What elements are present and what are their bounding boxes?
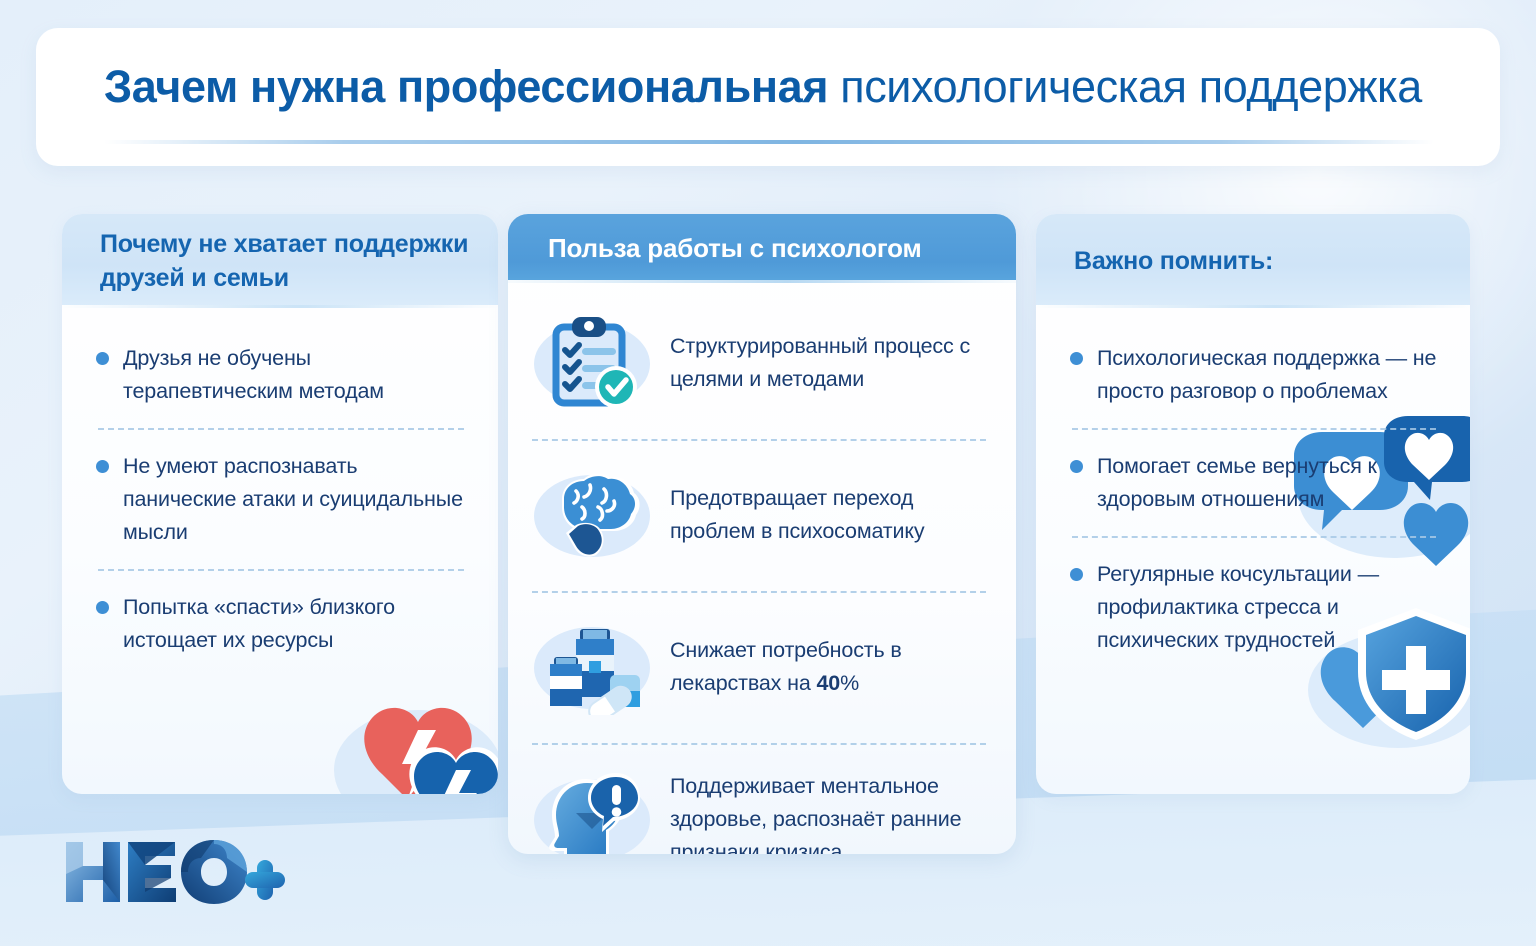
list-item-label: Структурированный процесс с целями и мет… bbox=[670, 330, 990, 396]
column-remember-header: Важно помнить: bbox=[1036, 214, 1470, 308]
header-card: Зачем нужна профессиональная психологиче… bbox=[36, 28, 1500, 166]
list-item-label: Предотвращает переход проблем в психосом… bbox=[670, 482, 990, 548]
list-item: Попытка «спасти» близкого истощает их ре… bbox=[96, 585, 468, 661]
broken-hearts-illustration bbox=[310, 684, 498, 794]
benefit-value: 40 bbox=[816, 671, 840, 695]
column-reasons-card: Почему не хватает поддержки друзей и сем… bbox=[62, 214, 498, 794]
separator bbox=[1072, 428, 1436, 430]
bullet-dot-icon bbox=[96, 460, 109, 473]
list-item-label: Поддерживает ментальное здоровье, распоз… bbox=[670, 770, 990, 855]
bullet-dot-icon bbox=[96, 352, 109, 365]
separator bbox=[532, 591, 986, 593]
column-reasons-header: Почему не хватает поддержки друзей и сем… bbox=[62, 214, 498, 308]
list-item: Поддерживает ментальное здоровье, распоз… bbox=[530, 759, 990, 854]
reasons-list: Друзья не обучены терапевтическим метода… bbox=[62, 308, 498, 661]
list-item: Не умеют распознавать панические атаки и… bbox=[96, 444, 468, 553]
benefit-text-suffix: % bbox=[840, 671, 859, 695]
list-item: Снижает потребность в лекарствах на 40% bbox=[530, 607, 990, 727]
list-item-label: Снижает потребность в лекарствах на 40% bbox=[670, 634, 990, 700]
separator bbox=[98, 569, 464, 571]
page-title-light: психологическая поддержка bbox=[828, 61, 1422, 112]
page-title-strong: Зачем нужна профессиональная bbox=[104, 61, 828, 112]
remember-list: Психологическая поддержка — не просто ра… bbox=[1036, 308, 1470, 661]
list-item: Помогает семье вернуться к здоровым отно… bbox=[1070, 444, 1440, 520]
list-item-label: Попытка «спасти» близкого истощает их ре… bbox=[123, 591, 468, 657]
column-reasons-heading: Почему не хватает поддержки друзей и сем… bbox=[100, 227, 498, 295]
list-item: Регулярные кочсультации — профилактика с… bbox=[1070, 552, 1440, 661]
bullet-dot-icon bbox=[1070, 460, 1083, 473]
benefits-list: Структурированный процесс с целями и мет… bbox=[508, 283, 1016, 854]
brain-icon bbox=[530, 463, 654, 567]
separator bbox=[532, 743, 986, 745]
list-item-label: Психологическая поддержка — не просто ра… bbox=[1097, 342, 1440, 408]
list-item-label: Друзья не обучены терапевтическим метода… bbox=[123, 342, 468, 408]
list-item: Структурированный процесс с целями и мет… bbox=[530, 303, 990, 423]
list-item-label: Помогает семье вернуться к здоровым отно… bbox=[1097, 450, 1440, 516]
separator bbox=[1072, 536, 1436, 538]
bullet-dot-icon bbox=[1070, 352, 1083, 365]
bullet-dot-icon bbox=[96, 601, 109, 614]
medicine-bottles-icon bbox=[530, 615, 654, 719]
list-item-label: Не умеют распознавать панические атаки и… bbox=[123, 450, 468, 549]
list-item: Друзья не обучены терапевтическим метода… bbox=[96, 336, 468, 412]
column-benefits-heading: Польза работы с психологом bbox=[548, 233, 921, 264]
column-remember-heading: Важно помнить: bbox=[1074, 244, 1273, 278]
column-benefits-header: Польза работы с психологом bbox=[508, 214, 1016, 283]
list-item: Психологическая поддержка — не просто ра… bbox=[1070, 336, 1440, 412]
neo-plus-logo bbox=[62, 836, 292, 908]
separator bbox=[98, 428, 464, 430]
list-item: Предотвращает переход проблем в психосом… bbox=[530, 455, 990, 575]
column-benefits-card: Польза работы с психологом bbox=[508, 214, 1016, 854]
page-title: Зачем нужна профессиональная психологиче… bbox=[104, 54, 1422, 120]
clipboard-checklist-icon bbox=[530, 311, 654, 415]
title-underline-rule bbox=[104, 140, 1434, 144]
head-alert-icon bbox=[530, 767, 654, 854]
column-remember-card: Важно помнить: bbox=[1036, 214, 1470, 794]
benefit-text-prefix: Снижает потребность в лекарствах на bbox=[670, 638, 902, 695]
list-item-label: Регулярные кочсультации — профилактика с… bbox=[1097, 558, 1440, 657]
separator bbox=[532, 439, 986, 441]
bullet-dot-icon bbox=[1070, 568, 1083, 581]
